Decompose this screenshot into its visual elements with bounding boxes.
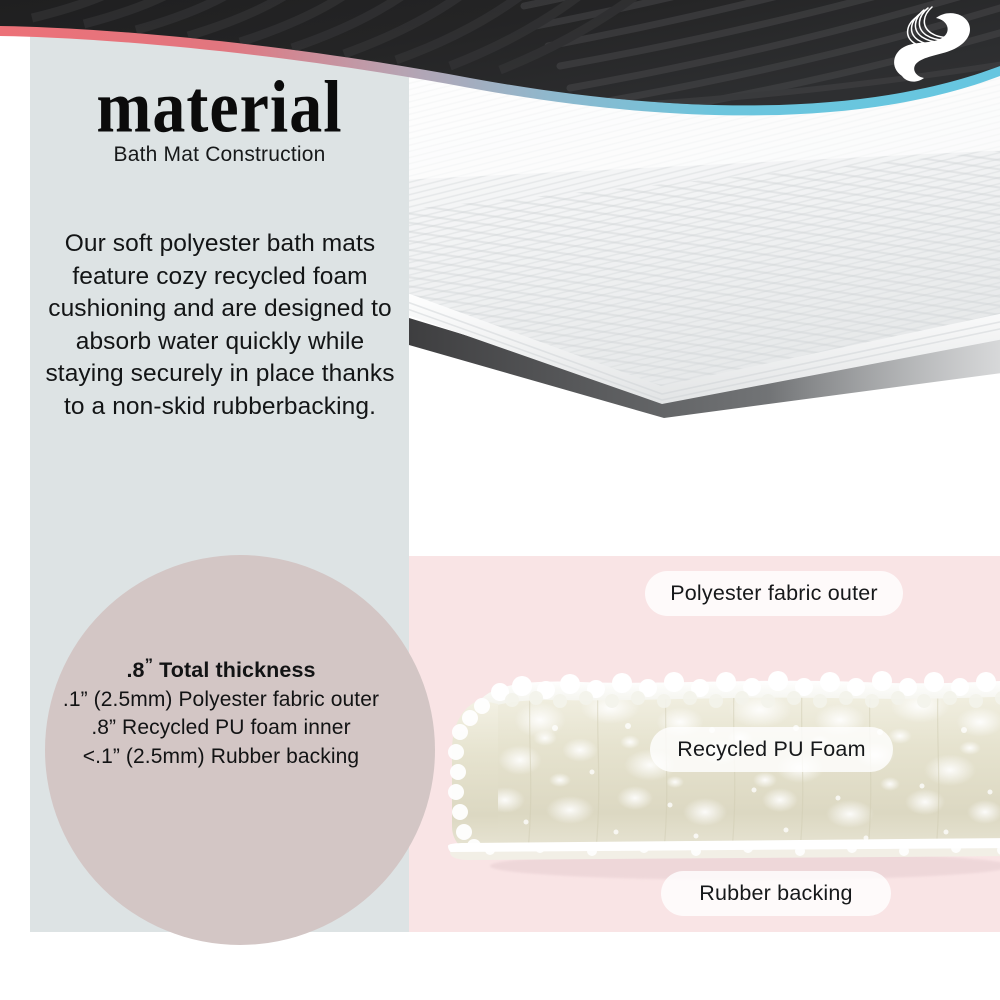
infographic-canvas: material Bath Mat Construction Our soft …	[0, 0, 1000, 1000]
description-paragraph: Our soft polyester bath mats feature coz…	[40, 228, 400, 423]
spec-total-unit: ”	[145, 655, 153, 674]
page-title: material	[30, 72, 409, 144]
spec-total-thickness: .8” Total thickness	[36, 655, 406, 683]
spec-line-fabric: .1” (2.5mm) Polyester fabric outer	[36, 686, 406, 714]
spec-line-foam: .8” Recycled PU foam inner	[36, 714, 406, 742]
thickness-spec-block: .8” Total thickness .1” (2.5mm) Polyeste…	[36, 655, 406, 771]
spec-line-rubber: <.1” (2.5mm) Rubber backing	[36, 743, 406, 771]
callout-rubber-backing: Rubber backing	[661, 871, 891, 916]
spec-total-value: .8	[126, 658, 144, 682]
callout-polyester-fabric-outer: Polyester fabric outer	[645, 571, 903, 616]
page-subtitle: Bath Mat Construction	[30, 143, 409, 167]
callout-recycled-pu-foam: Recycled PU Foam	[650, 727, 893, 772]
spec-total-label: Total thickness	[159, 658, 315, 682]
